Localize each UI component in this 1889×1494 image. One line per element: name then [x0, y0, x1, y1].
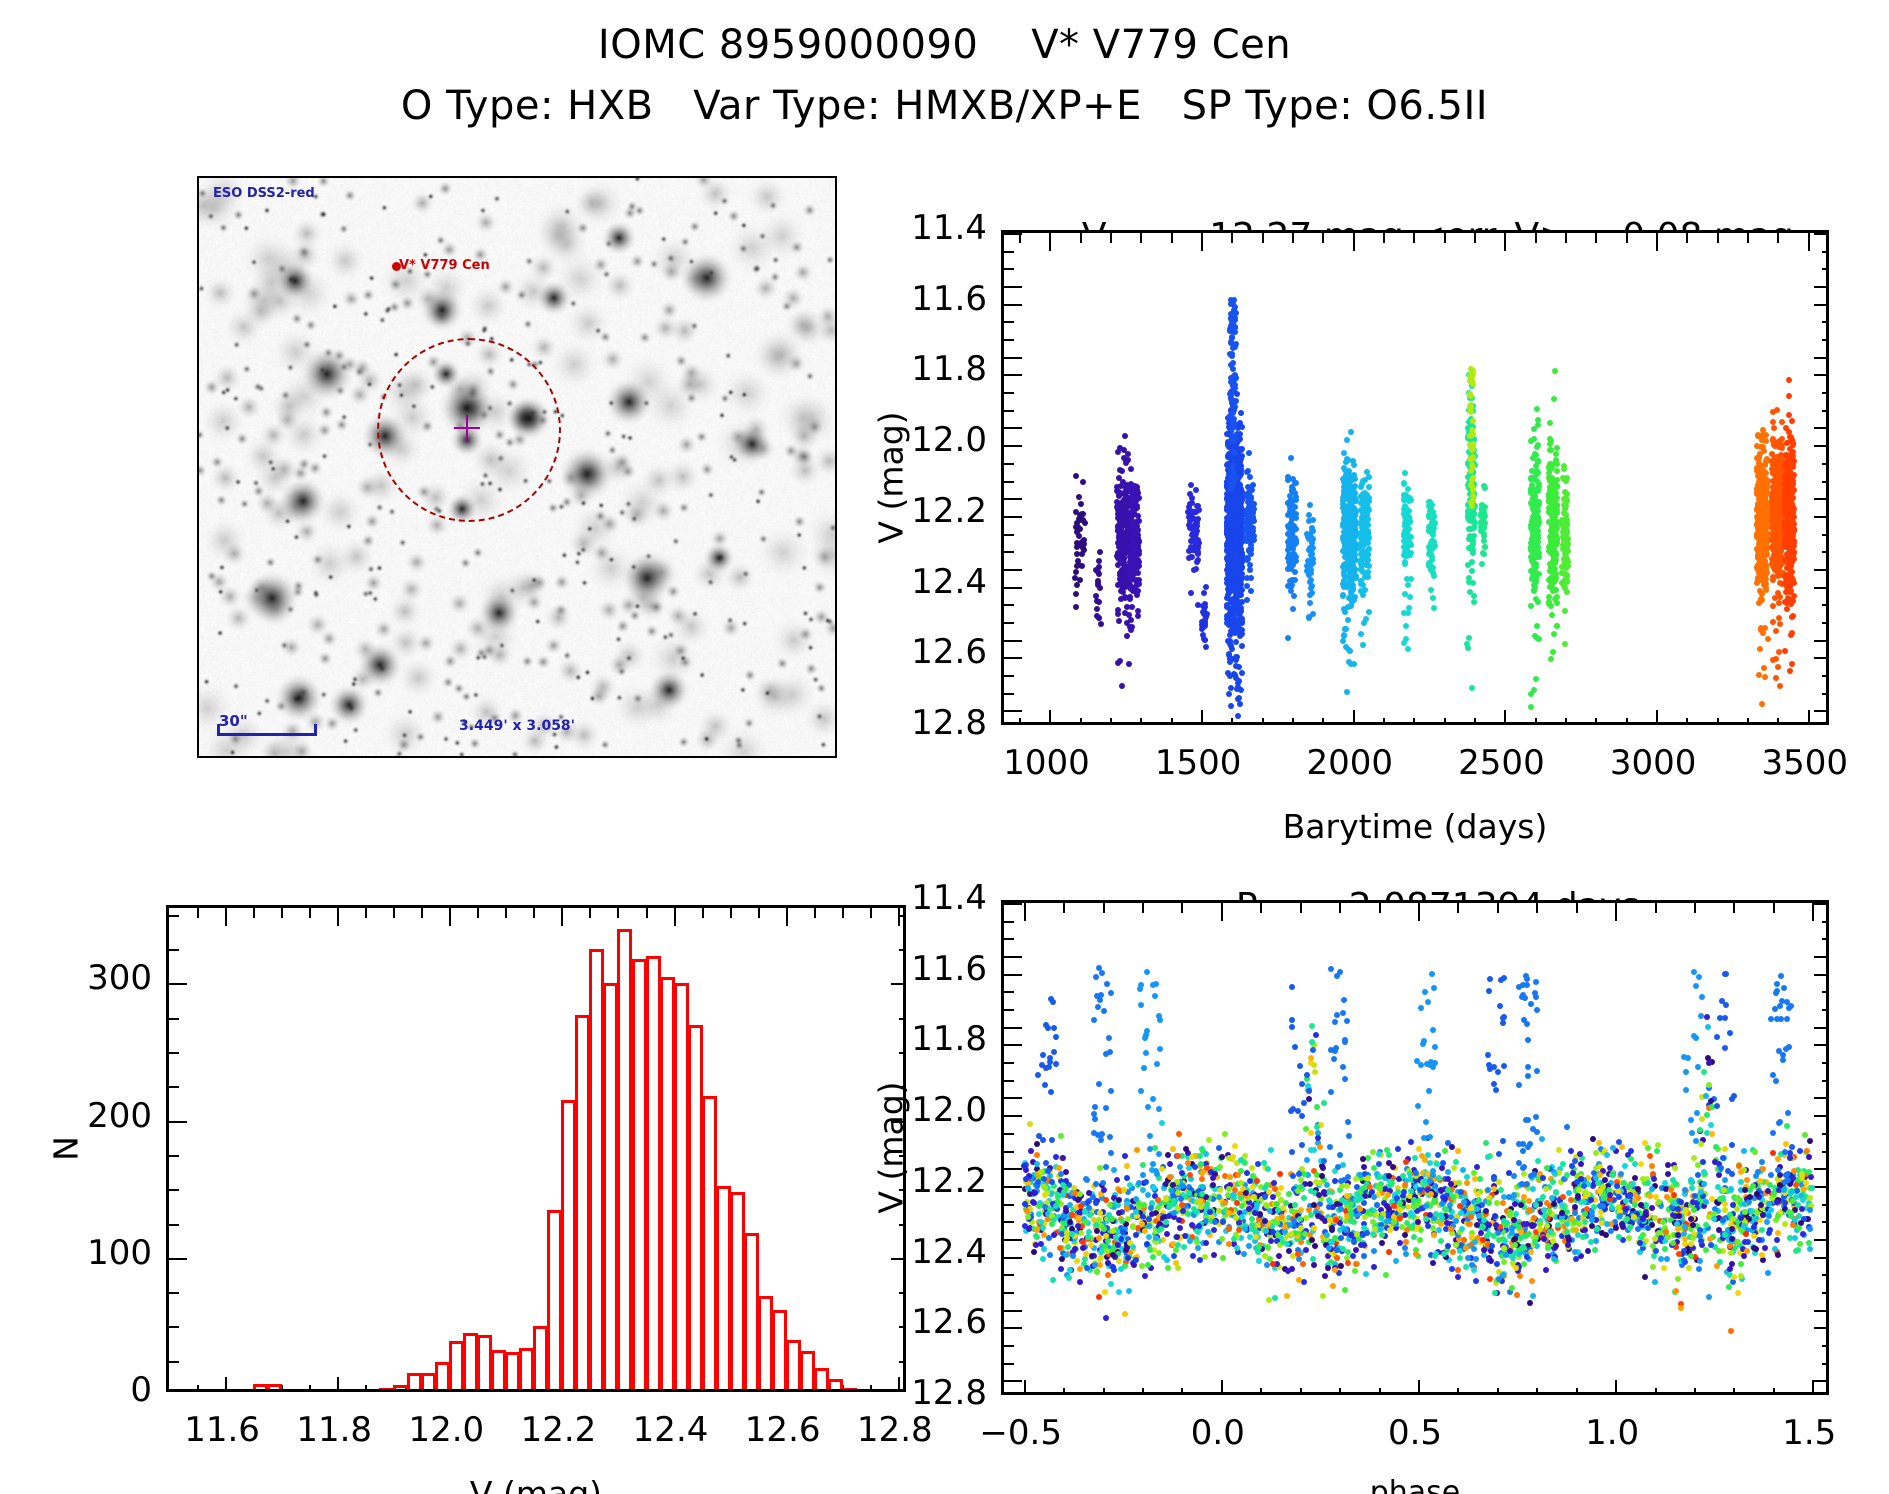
lightcurve-data-point: [1787, 668, 1793, 674]
lightcurve-data-point: [1765, 636, 1771, 642]
axis-tick: [1747, 718, 1749, 725]
lightcurve-data-point: [1291, 593, 1297, 599]
lightcurve-data-point: [1774, 407, 1780, 413]
lightcurve-data-point: [1366, 484, 1372, 490]
lightcurve-data-point: [1345, 617, 1351, 623]
axis-tick: [1773, 1388, 1775, 1395]
axis-tick: [1822, 1009, 1829, 1011]
lightcurve-data-point: [1341, 492, 1347, 498]
phase-data-point: [1592, 1247, 1598, 1253]
histogram-bar: [519, 1348, 534, 1392]
lightcurve-data-point: [1199, 626, 1205, 632]
axis-tick: [1418, 903, 1420, 921]
phase-data-point: [1770, 1150, 1776, 1156]
lightcurve-data-point: [1402, 591, 1408, 597]
lightcurve-data-point: [1228, 703, 1234, 709]
axis-tick: [1004, 1274, 1014, 1276]
target-crosshair-vertical: [466, 415, 468, 441]
lightcurve-data-point: [1307, 592, 1313, 598]
lightcurve-data-point: [1288, 455, 1294, 461]
lightcurve-data-point: [1344, 689, 1350, 695]
lightcurve-data-point: [1134, 557, 1140, 563]
lightcurve-data-point: [1470, 487, 1476, 493]
lightcurve-data-point: [1788, 563, 1794, 569]
histogram-bar: [253, 1384, 268, 1392]
phase-data-point: [1708, 1122, 1714, 1128]
axis-tick: [1004, 903, 1022, 905]
axis-tick: [1474, 718, 1476, 725]
axis-tick: [1080, 233, 1082, 243]
lightcurve-data-point: [1547, 420, 1553, 426]
phase-data-point: [1171, 1253, 1177, 1259]
lightcurve-data-point: [1308, 585, 1314, 591]
lightcurve-data-point: [1365, 569, 1371, 575]
lightcurve-data-point: [1115, 555, 1121, 561]
axis-tick: [1004, 640, 1022, 642]
axis-tick: [1822, 321, 1829, 323]
lightcurve-data-point: [1307, 560, 1313, 566]
lightcurve-data-point: [1341, 450, 1347, 456]
axis-tick: [337, 1377, 339, 1392]
lightcurve-data-point: [1122, 433, 1128, 439]
lightcurve-data-point: [1189, 554, 1195, 560]
axis-tick: [899, 1018, 906, 1020]
phase-data-point: [1314, 1104, 1320, 1110]
lightcurve-xaxis-label: Barytime (days): [1283, 807, 1548, 846]
lightcurve-data-point: [1407, 594, 1413, 600]
lightcurve-data-point: [1227, 641, 1233, 647]
axis-tick: [1814, 1044, 1829, 1046]
phase-data-point: [1722, 1177, 1728, 1183]
histogram-bar: [393, 1385, 408, 1392]
dss-survey-label: ESO DSS2-red: [213, 186, 315, 201]
lightcurve-data-point: [1341, 578, 1347, 584]
axis-tick: [1004, 657, 1022, 659]
lightcurve-data-point: [1246, 450, 1252, 456]
phase-data-point: [1264, 1262, 1270, 1268]
lightcurve-data-point: [1760, 444, 1766, 450]
axis-tick: [1300, 1388, 1302, 1395]
axis-tick: [1004, 956, 1022, 958]
lightcurve-data-point: [1562, 641, 1568, 647]
lightcurve-data-point: [1402, 559, 1408, 565]
axis-tick: [1497, 1388, 1499, 1395]
lightcurve-data-point: [1247, 567, 1253, 573]
axis-tick: [1576, 903, 1578, 913]
lightcurve-data-point: [1773, 656, 1779, 662]
axis-tick: [1497, 903, 1499, 913]
axis-tick: [758, 908, 760, 918]
phase-data-point: [1167, 1161, 1173, 1167]
phase-data-point: [1706, 1294, 1712, 1300]
axis-tick: [1812, 903, 1814, 921]
lightcurve-data-point: [1554, 468, 1560, 474]
axis-tick: [1808, 710, 1810, 725]
lightcurve-data-point: [1469, 371, 1475, 377]
axis-tick: [1474, 233, 1476, 243]
lightcurve-data-point: [1244, 597, 1250, 603]
axis-tick: [1080, 718, 1082, 725]
histogram-bar: [365, 1390, 380, 1393]
axis-tick: [1822, 481, 1829, 483]
lightcurve-data-point: [1784, 552, 1790, 558]
lightcurve-data-point: [1119, 468, 1125, 474]
histogram-yaxis-label: N: [47, 1048, 86, 1248]
lightcurve-data-point: [1563, 478, 1569, 484]
axis-tick: [1822, 268, 1829, 270]
axis-tick: [1822, 938, 1829, 940]
axis-tick: [1171, 718, 1173, 725]
axis-tick: [1140, 718, 1142, 725]
lightcurve-data-point: [1408, 542, 1414, 548]
axis-tick: [1814, 587, 1829, 589]
lightcurve-data-point: [1771, 563, 1777, 569]
lightcurve-data-point: [1125, 451, 1131, 457]
lightcurve-data-point: [1551, 396, 1557, 402]
lightcurve-data-point: [1136, 495, 1142, 501]
axis-tick: [1814, 569, 1829, 571]
lightcurve-data-point: [1115, 582, 1121, 588]
axis-tick: [1004, 321, 1014, 323]
axis-tick: [1004, 410, 1014, 412]
lightcurve-data-point: [1534, 623, 1540, 629]
phase-data-point: [1501, 1259, 1507, 1265]
axis-tick: [1535, 718, 1537, 725]
phase-data-point: [1417, 1237, 1423, 1243]
axis-tick: [1181, 903, 1183, 913]
lightcurve-data-point: [1408, 534, 1414, 540]
axis-tick: [1733, 1388, 1735, 1395]
axis-tick: [1063, 903, 1065, 913]
histogram-bar: [856, 1391, 871, 1392]
lightcurve-data-point: [1784, 606, 1790, 612]
phase-data-point: [1638, 1161, 1644, 1167]
axis-tick: [1655, 903, 1657, 913]
lightcurve-data-point: [1359, 531, 1365, 537]
lightcurve-data-point: [1528, 704, 1534, 710]
lightcurve-data-point: [1237, 629, 1243, 635]
lightcurve-data-point: [1552, 368, 1558, 374]
phase-data-point: [1047, 1252, 1053, 1258]
axis-tick: [169, 1189, 179, 1191]
lightcurve-data-point: [1469, 568, 1475, 574]
lightcurve-data-point: [1097, 549, 1103, 555]
axis-tick: [1694, 903, 1696, 913]
lightcurve-data-point: [1073, 604, 1079, 610]
axis-tick: [1626, 718, 1628, 725]
lightcurve-data-point: [1402, 470, 1408, 476]
lightcurve-data-point: [1535, 422, 1541, 428]
lightcurve-data-point: [1531, 588, 1537, 594]
axis-tick: [1004, 1345, 1014, 1347]
lightcurve-data-point: [1365, 522, 1371, 528]
lightcurve-data-point: [1344, 437, 1350, 443]
axis-tick: [1822, 339, 1829, 341]
axis-tick: [1353, 233, 1355, 251]
lightcurve-data-point: [1249, 508, 1255, 514]
lightcurve-data-point: [1073, 509, 1079, 515]
lightcurve-data-point: [1238, 410, 1244, 416]
axis-tick: [1004, 268, 1014, 270]
lightcurve-data-point: [1246, 548, 1252, 554]
lightcurve-data-point: [1535, 470, 1541, 476]
axis-tick: [814, 908, 816, 918]
lightcurve-data-point: [1341, 633, 1347, 639]
axis-tick: [1595, 718, 1597, 725]
lightcurve-data-point: [1771, 425, 1777, 431]
lightcurve-data-point: [1191, 567, 1197, 573]
axis-tick: [169, 1224, 179, 1226]
axis-tick: [1822, 1062, 1829, 1064]
phase-data-point: [1772, 1246, 1778, 1252]
axis-tick: [1004, 1186, 1022, 1188]
lightcurve-data-point: [1759, 701, 1765, 707]
lightcurve-data-point: [1428, 587, 1434, 593]
axis-tick: [1004, 1363, 1014, 1365]
lightcurve-data-point: [1135, 588, 1141, 594]
lightcurve-data-point: [1466, 579, 1472, 585]
lightcurve-data-point: [1469, 427, 1475, 433]
axis-tick: [169, 949, 179, 951]
target-aperture-circle: [377, 338, 561, 522]
lightcurve-data-point: [1784, 584, 1790, 590]
lightcurve-data-point: [1229, 485, 1235, 491]
axis-tick: [702, 908, 704, 918]
axis-tick: [421, 908, 423, 918]
histogram-bar: [730, 1192, 745, 1392]
axis-tick: [1595, 233, 1597, 243]
phase-data-point: [1665, 1171, 1671, 1177]
lightcurve-data-point: [1561, 463, 1567, 469]
lightcurve-data-point: [1286, 559, 1292, 565]
axis-tick: [1004, 304, 1022, 306]
lightcurve-data-point: [1194, 528, 1200, 534]
phase-data-point: [1386, 1152, 1392, 1158]
axis-tick: [1822, 1274, 1829, 1276]
phase-data-point: [1027, 1121, 1033, 1127]
lightcurve-data-point: [1233, 432, 1239, 438]
lightcurve-data-point: [1227, 326, 1233, 332]
lightcurve-data-point: [1342, 565, 1348, 571]
axis-tick: [1339, 903, 1341, 913]
lightcurve-data-point: [1532, 532, 1538, 538]
lightcurve-data-point: [1465, 645, 1471, 651]
lightcurve-data-point: [1770, 510, 1776, 516]
axis-tick: [1004, 357, 1022, 359]
lightcurve-data-point: [1193, 547, 1199, 553]
histogram-bar: [632, 959, 647, 1392]
phase-data-point: [1649, 1205, 1655, 1211]
axis-tick: [1656, 710, 1658, 725]
phase-data-point: [1416, 1146, 1422, 1152]
axis-tick: [169, 1018, 179, 1020]
axis-tick: [1004, 921, 1014, 923]
axis-tick: [1814, 1186, 1829, 1188]
lightcurve-data-point: [1534, 444, 1540, 450]
histogram-bar: [449, 1341, 464, 1392]
axis-tick: [1535, 233, 1537, 243]
lightcurve-data-point: [1290, 509, 1296, 515]
lightcurve-data-point: [1791, 538, 1797, 544]
phase-data-point: [1403, 1159, 1409, 1165]
axis-tick: [1383, 233, 1385, 243]
lightcurve-data-point: [1534, 635, 1540, 641]
lightcurve-data-point: [1790, 613, 1796, 619]
lightcurve-data-point: [1403, 623, 1409, 629]
lightcurve-data-point: [1342, 626, 1348, 632]
phase-data-point: [1150, 1254, 1156, 1260]
lightcurve-data-point: [1231, 373, 1237, 379]
histogram-bar: [617, 929, 632, 1392]
lightcurve-data-point: [1468, 468, 1474, 474]
axis-tick: [1004, 233, 1022, 235]
lightcurve-data-point: [1466, 635, 1472, 641]
axis-tick: [1733, 903, 1735, 913]
histogram-bar: [646, 956, 661, 1392]
axis-tick: [1413, 718, 1415, 725]
lightcurve-data-point: [1351, 661, 1357, 667]
axis-tick: [1822, 1221, 1829, 1223]
lightcurve-data-point: [1305, 534, 1311, 540]
lightcurve-data-point: [1237, 701, 1243, 707]
lightcurve-data-point: [1779, 419, 1785, 425]
axis-tick: [1615, 903, 1617, 921]
phase-data-point: [1194, 1239, 1200, 1245]
lightcurve-data-point: [1239, 670, 1245, 676]
phase-data-point: [1686, 1265, 1692, 1271]
lightcurve-data-point: [1470, 541, 1476, 547]
lightcurve-data-point: [1237, 482, 1243, 488]
lightcurve-data-point: [1293, 494, 1299, 500]
axis-tick: [1004, 1115, 1022, 1117]
axis-tick: [1004, 1292, 1014, 1294]
axis-tick: [1260, 903, 1262, 913]
axis-tick: [1822, 1363, 1829, 1365]
lightcurve-data-point: [1789, 418, 1795, 424]
lightcurve-data-point: [1790, 598, 1796, 604]
lightcurve-data-point: [1128, 489, 1134, 495]
axis-tick: [1024, 1380, 1026, 1395]
axis-tick: [1773, 903, 1775, 913]
axis-tick: [1444, 718, 1446, 725]
lightcurve-data-point: [1239, 453, 1245, 459]
axis-tick: [1322, 233, 1324, 243]
histogram-bar: [660, 977, 675, 1392]
lightcurve-data-point: [1358, 631, 1364, 637]
lightcurve-data-point: [1760, 630, 1766, 636]
lightcurve-data-point: [1193, 509, 1199, 515]
dss-field-of-view-label: 3.449' x 3.058': [459, 718, 575, 734]
lightcurve-data-point: [1554, 537, 1560, 543]
axis-tick: [169, 1086, 179, 1088]
axis-tick: [1231, 718, 1233, 725]
lightcurve-data-point: [1536, 571, 1542, 577]
lightcurve-data-point: [1079, 563, 1085, 569]
histogram-xaxis-label: V (mag): [470, 1474, 602, 1494]
lightcurve-data-point: [1777, 563, 1783, 569]
phase-data-point: [1116, 1289, 1122, 1295]
lightcurve-data-point: [1098, 621, 1104, 627]
histogram-bar: [589, 949, 604, 1392]
lightcurve-data-point: [1761, 665, 1767, 671]
axis-tick: [1814, 640, 1829, 642]
lightcurve-data-point: [1078, 501, 1084, 507]
axis-tick: [197, 1385, 199, 1392]
lightcurve-data-point: [1081, 547, 1087, 553]
lightcurve-data-point: [1563, 575, 1569, 581]
lightcurve-data-point: [1340, 548, 1346, 554]
histogram-bar: [477, 1335, 492, 1392]
lightcurve-data-point: [1471, 593, 1477, 599]
lightcurve-data-point: [1533, 676, 1539, 682]
phase-data-point: [1775, 1230, 1781, 1236]
axis-tick: [1814, 357, 1829, 359]
lightcurve-data-point: [1117, 658, 1123, 664]
lightcurve-data-point: [1482, 544, 1488, 550]
axis-tick: [898, 1377, 900, 1392]
axis-tick: [1004, 286, 1022, 288]
axis-tick: [1814, 1239, 1829, 1241]
phase-data-point: [1133, 1232, 1139, 1238]
axis-tick: [1822, 1151, 1829, 1153]
lightcurve-data-point: [1554, 623, 1560, 629]
lightcurve-data-point: [1363, 562, 1369, 568]
histogram-bar: [491, 1350, 506, 1392]
axis-tick: [1822, 675, 1829, 677]
phase-data-point: [1556, 1147, 1562, 1153]
lightcurve-data-point: [1408, 550, 1414, 556]
axis-tick: [1110, 718, 1112, 725]
lightcurve-data-point: [1115, 611, 1121, 617]
phase-data-point: [1632, 1161, 1638, 1167]
lightcurve-data-point: [1224, 519, 1230, 525]
axis-tick: [1814, 1115, 1829, 1117]
lightcurve-data-point: [1528, 438, 1534, 444]
phase-data-point: [1053, 1154, 1059, 1160]
lightcurve-data-point: [1762, 674, 1768, 680]
axis-tick: [1142, 903, 1144, 913]
axis-tick: [1777, 718, 1779, 725]
lightcurve-data-point: [1773, 675, 1779, 681]
axis-tick: [1063, 1388, 1065, 1395]
axis-tick: [1379, 1388, 1381, 1395]
axis-tick: [169, 1258, 187, 1260]
lightcurve-data-point: [1227, 546, 1233, 552]
lightcurve-data-point: [1754, 443, 1760, 449]
lightcurve-data-point: [1135, 608, 1141, 614]
lightcurve-data-point: [1096, 558, 1102, 564]
lightcurve-data-point: [1128, 466, 1134, 472]
phase-data-point: [1774, 1237, 1780, 1243]
axis-tick: [1004, 392, 1014, 394]
axis-tick: [1379, 903, 1381, 913]
lightcurve-data-point: [1128, 617, 1134, 623]
axis-tick: [1686, 233, 1688, 243]
lightcurve-data-point: [1763, 470, 1769, 476]
lightcurve-data-point: [1119, 683, 1125, 689]
lightcurve-data-point: [1230, 360, 1236, 366]
axis-tick: [1004, 675, 1014, 677]
lightcurve-data-point: [1133, 578, 1139, 584]
axis-tick: [1004, 374, 1022, 376]
axis-tick: [899, 1326, 906, 1328]
histogram-bar: [758, 1296, 773, 1392]
lightcurve-data-point: [1760, 544, 1766, 550]
lightcurve-data-point: [1764, 570, 1770, 576]
lightcurve-data-point: [1196, 540, 1202, 546]
lightcurve-data-point: [1551, 587, 1557, 593]
axis-tick: [1413, 233, 1415, 243]
